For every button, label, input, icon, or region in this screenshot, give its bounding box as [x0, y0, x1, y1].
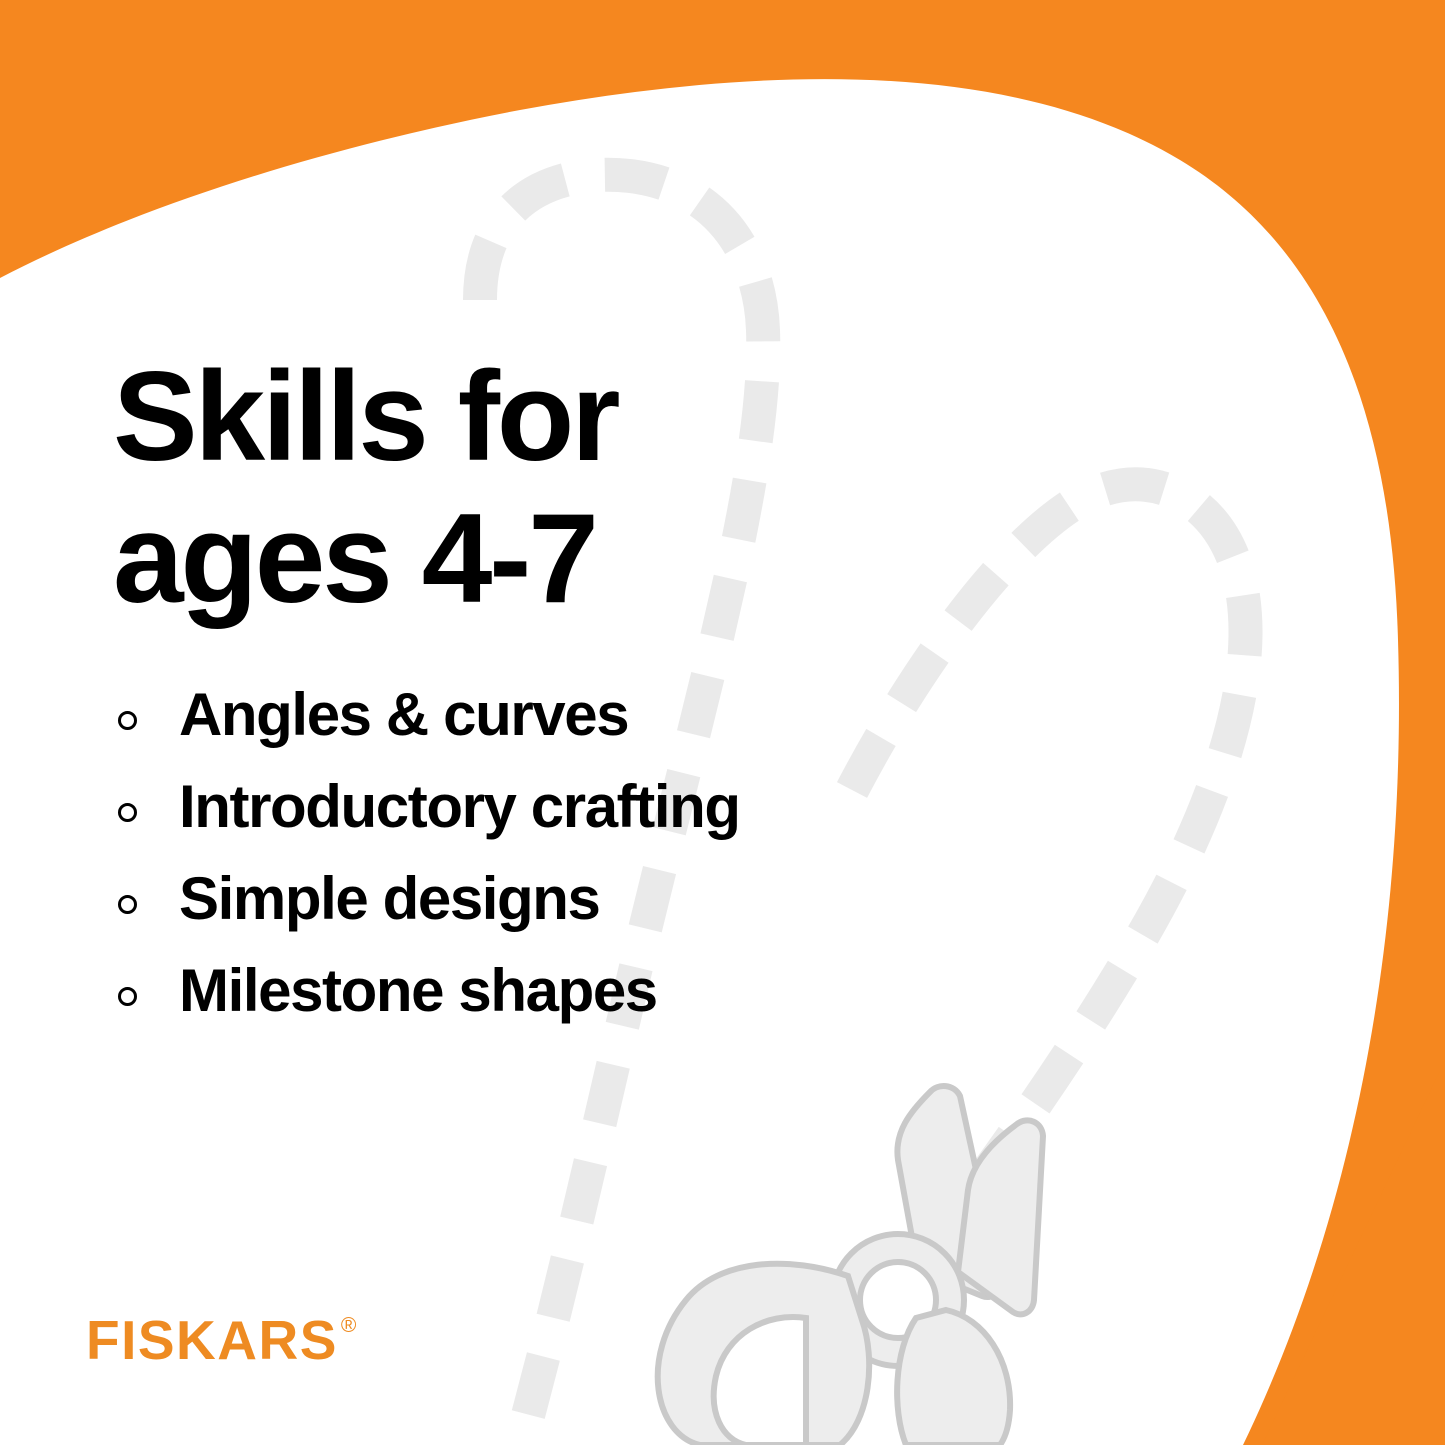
list-item-label: Milestone shapes: [179, 961, 657, 1021]
list-item: Angles & curves: [118, 682, 1018, 774]
list-item-label: Simple designs: [179, 869, 600, 929]
ring-bullet-icon: [118, 711, 137, 730]
logo-wordmark: FISKARS: [86, 1313, 338, 1368]
ring-bullet-icon: [118, 895, 137, 914]
list-item-label: Angles & curves: [179, 685, 628, 745]
fiskars-logo: FISKARS ®: [86, 1313, 356, 1368]
list-item: Simple designs: [118, 866, 1018, 958]
skills-list: Angles & curves Introductory crafting Si…: [118, 682, 1018, 1050]
list-item-label: Introductory crafting: [179, 777, 740, 837]
ring-bullet-icon: [118, 987, 137, 1006]
registered-trademark-icon: ®: [341, 1315, 356, 1336]
ring-bullet-icon: [118, 803, 137, 822]
page-title: Skills for ages 4-7: [113, 345, 913, 629]
poster-canvas: Skills for ages 4-7 Angles & curves Intr…: [0, 0, 1445, 1445]
list-item: Introductory crafting: [118, 774, 1018, 866]
list-item: Milestone shapes: [118, 958, 1018, 1050]
poster-content: Skills for ages 4-7 Angles & curves Intr…: [0, 0, 1445, 1445]
